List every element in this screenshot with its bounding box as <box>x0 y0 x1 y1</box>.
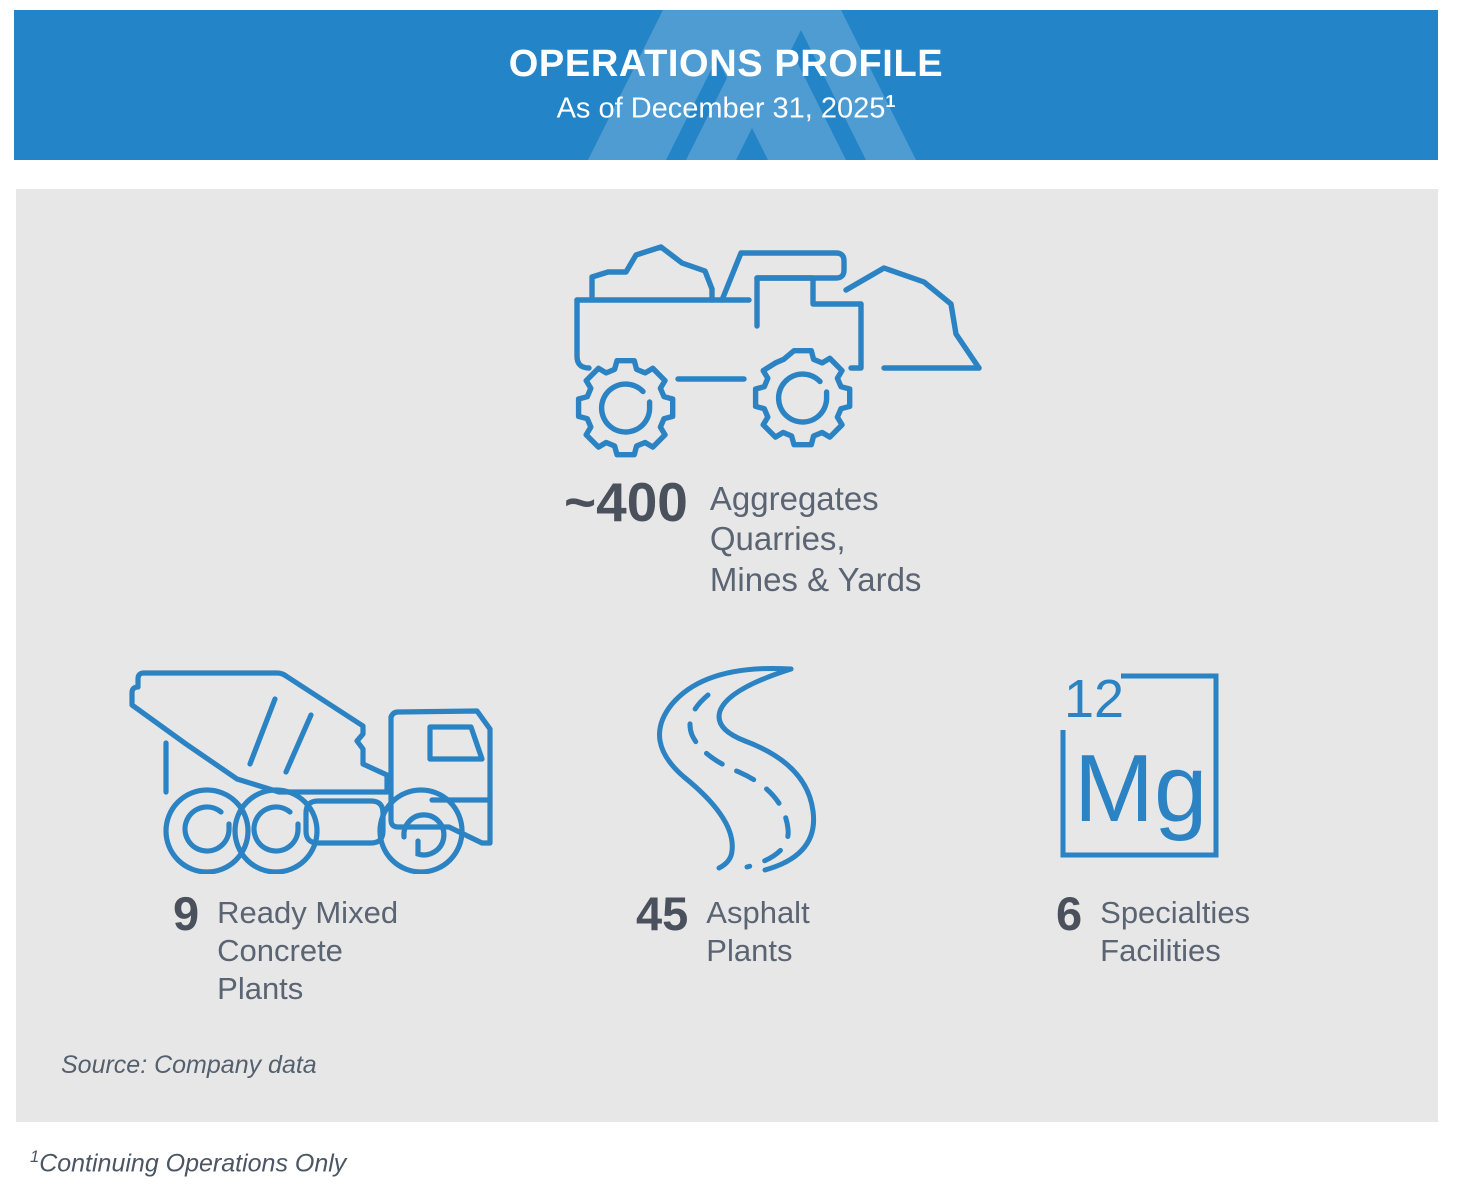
concrete-mixer-truck-icon <box>119 659 519 874</box>
element-atomic-number: 12 <box>1064 669 1124 729</box>
footnote: 1Continuing Operations Only <box>30 1148 346 1178</box>
page-subtitle-text: As of December 31, 2025 <box>557 93 886 125</box>
source-note: Source: Company data <box>61 1051 317 1080</box>
dump-truck-icon <box>551 234 1021 469</box>
stat-specialties-label-line-1: Specialties <box>1100 894 1250 932</box>
footnote-text: Continuing Operations Only <box>39 1149 346 1177</box>
header-text-wrap: OPERATIONS PROFILE As of December 31, 20… <box>14 10 1438 160</box>
page-title: OPERATIONS PROFILE <box>509 44 943 86</box>
stat-aggregates-label-line-1: Aggregates <box>710 479 922 519</box>
stat-asphalt: 45 Asphalt Plants <box>616 659 946 970</box>
stat-specialties-icon-box: 12 Mg <box>1026 659 1356 874</box>
stat-ready-mixed-concrete: 9 Ready Mixed Concrete Plants <box>111 659 531 1007</box>
stat-ready-mixed-concrete-number: 9 <box>173 890 199 937</box>
stat-specialties-row: 6 Specialties Facilities <box>1026 890 1356 970</box>
periodic-element-mg-icon: 12 Mg <box>1048 659 1248 874</box>
stat-aggregates-label-line-3: Mines & Yards <box>710 560 922 600</box>
element-symbol: Mg <box>1074 735 1207 842</box>
page-subtitle-footnote-marker: 1 <box>885 91 895 111</box>
stat-aggregates-label: Aggregates Quarries, Mines & Yards <box>710 479 922 600</box>
content-panel: ~400 Aggregates Quarries, Mines & Yards <box>16 189 1438 1122</box>
stat-aggregates-icon-box <box>536 234 1036 469</box>
stat-asphalt-number: 45 <box>636 890 688 937</box>
stat-aggregates: ~400 Aggregates Quarries, Mines & Yards <box>536 234 1036 600</box>
stat-asphalt-row: 45 Asphalt Plants <box>616 890 946 970</box>
stat-asphalt-label: Asphalt Plants <box>706 894 809 970</box>
stat-ready-mixed-concrete-row: 9 Ready Mixed Concrete Plants <box>111 890 531 1007</box>
stat-ready-mixed-concrete-label-line-1: Ready Mixed <box>217 894 398 932</box>
stat-ready-mixed-concrete-label-line-3: Plants <box>217 970 398 1008</box>
winding-road-icon <box>644 659 854 874</box>
stat-specialties-label-line-2: Facilities <box>1100 932 1250 970</box>
stat-aggregates-number: ~400 <box>564 475 688 530</box>
stat-aggregates-row: ~400 Aggregates Quarries, Mines & Yards <box>536 475 1036 600</box>
stat-asphalt-icon-box <box>616 659 946 874</box>
stat-ready-mixed-concrete-icon-box <box>111 659 531 874</box>
stat-ready-mixed-concrete-label: Ready Mixed Concrete Plants <box>217 894 398 1007</box>
stat-aggregates-label-line-2: Quarries, <box>710 519 922 559</box>
stat-asphalt-label-line-2: Plants <box>706 932 809 970</box>
stat-specialties-label: Specialties Facilities <box>1100 894 1250 970</box>
stat-specialties-number: 6 <box>1056 890 1082 937</box>
stat-asphalt-label-line-1: Asphalt <box>706 894 809 932</box>
stat-specialties: 12 Mg 6 Specialties Facilities <box>1026 659 1356 970</box>
footnote-marker: 1 <box>30 1148 39 1166</box>
stat-ready-mixed-concrete-label-line-2: Concrete <box>217 932 398 970</box>
page-subtitle: As of December 31, 20251 <box>557 92 896 126</box>
header-banner: OPERATIONS PROFILE As of December 31, 20… <box>14 10 1438 160</box>
